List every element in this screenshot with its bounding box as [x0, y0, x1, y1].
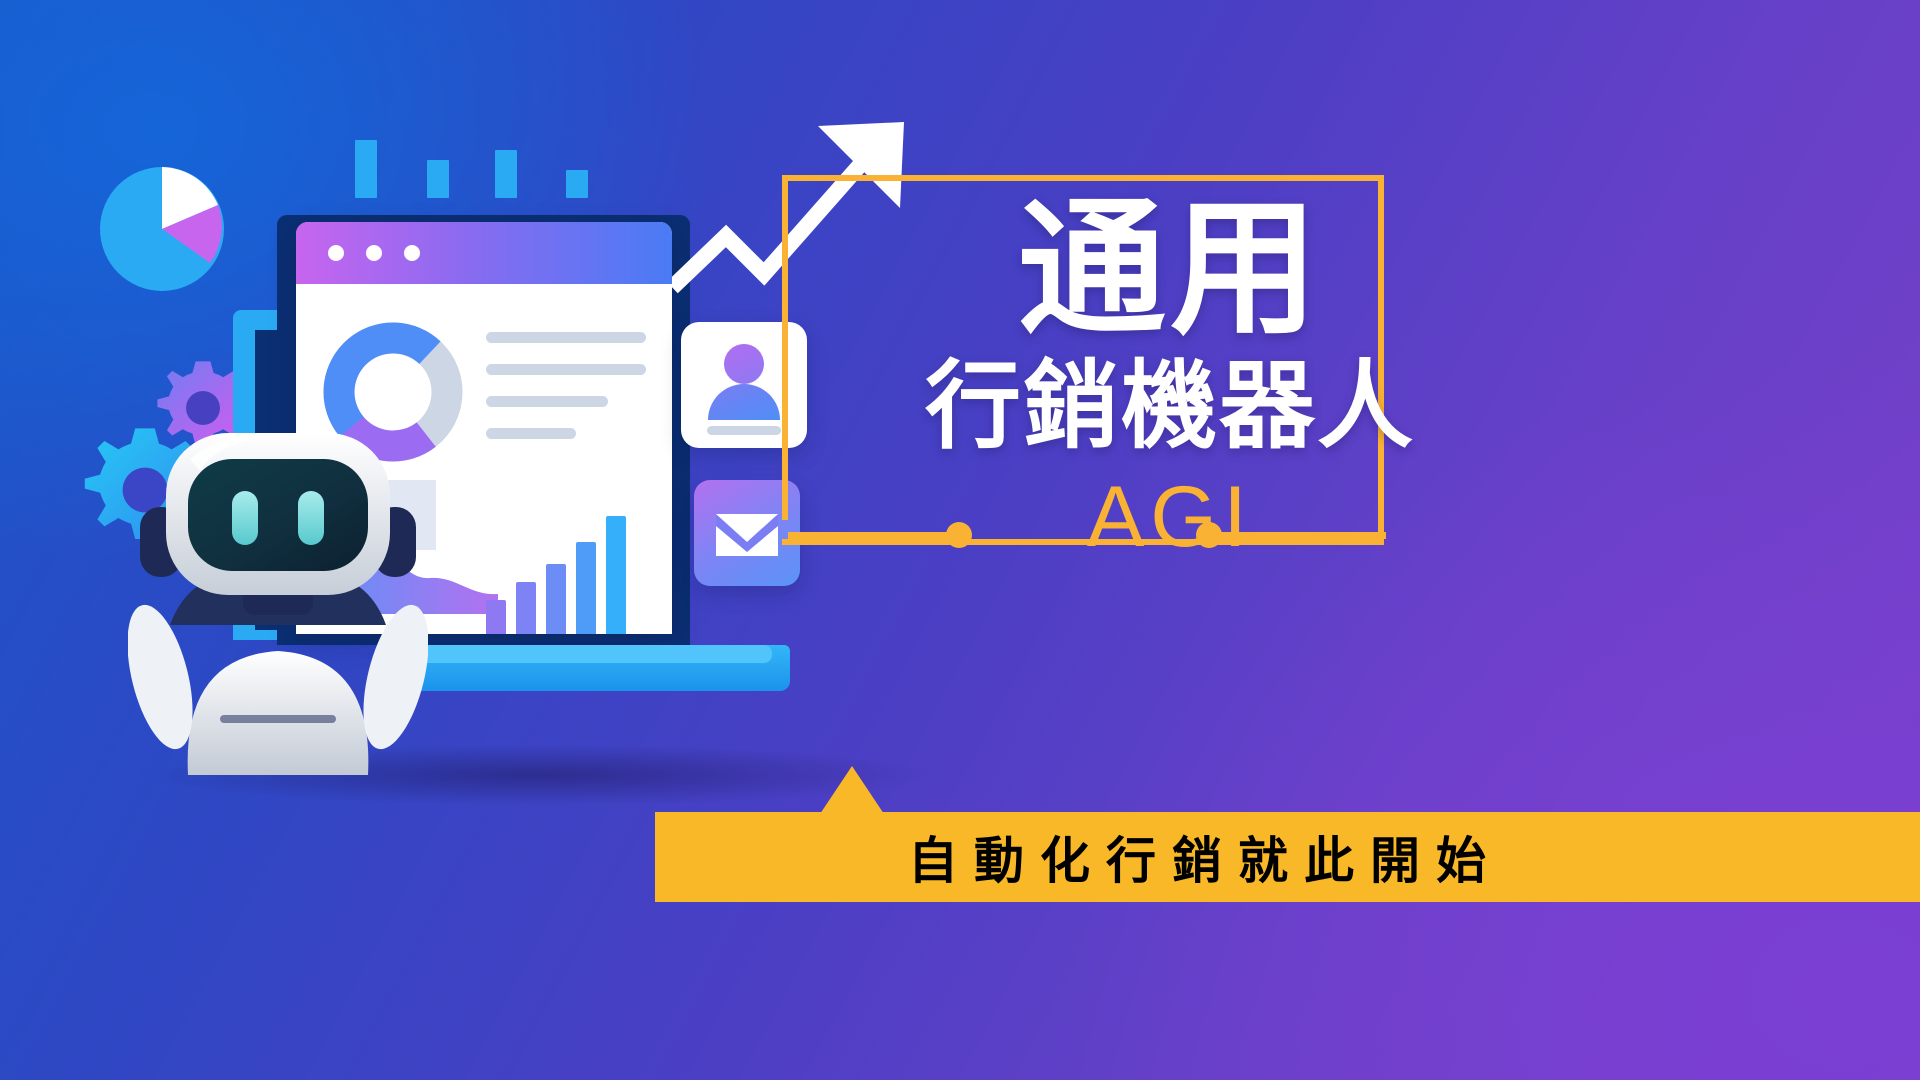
banner-notch	[820, 766, 884, 814]
bottom-banner: 自動化行銷就此開始	[655, 812, 1920, 902]
window-dot-icon	[404, 245, 420, 261]
dashboard-bar-chart	[486, 499, 646, 634]
mini-bar	[427, 160, 449, 198]
text-line	[486, 364, 646, 375]
text-line	[486, 396, 608, 407]
agi-label: AGI	[820, 474, 1520, 560]
dashboard-text-lines	[486, 332, 646, 460]
text-line	[486, 332, 646, 343]
window-dot-icon	[328, 245, 344, 261]
pie-chart-icon	[98, 165, 226, 293]
marketing-banner: 通用 行銷機器人 AGI 自動化行銷就此開始	[0, 0, 1920, 1080]
bar	[486, 600, 506, 634]
avatar-head	[724, 344, 764, 384]
bar	[546, 564, 566, 634]
robot-mascot	[128, 415, 428, 775]
avatar-name-bar	[707, 426, 781, 435]
mini-bar	[355, 140, 377, 198]
browser-titlebar	[296, 222, 672, 284]
mini-bar	[495, 150, 517, 198]
headline-block: 通用 行銷機器人 AGI	[820, 196, 1520, 560]
page-subtitle: 行銷機器人	[820, 354, 1520, 460]
banner-tagline: 自動化行銷就此開始	[655, 812, 1755, 902]
laptop-base-lip	[404, 645, 772, 663]
orange-frame-left-edge	[782, 175, 788, 520]
page-title: 通用	[820, 196, 1520, 344]
text-line	[486, 428, 576, 439]
window-dot-icon	[366, 245, 382, 261]
bar	[576, 542, 596, 634]
bar	[516, 582, 536, 634]
avatar-body	[708, 384, 780, 420]
mini-bar	[566, 170, 588, 198]
bar	[606, 516, 626, 634]
